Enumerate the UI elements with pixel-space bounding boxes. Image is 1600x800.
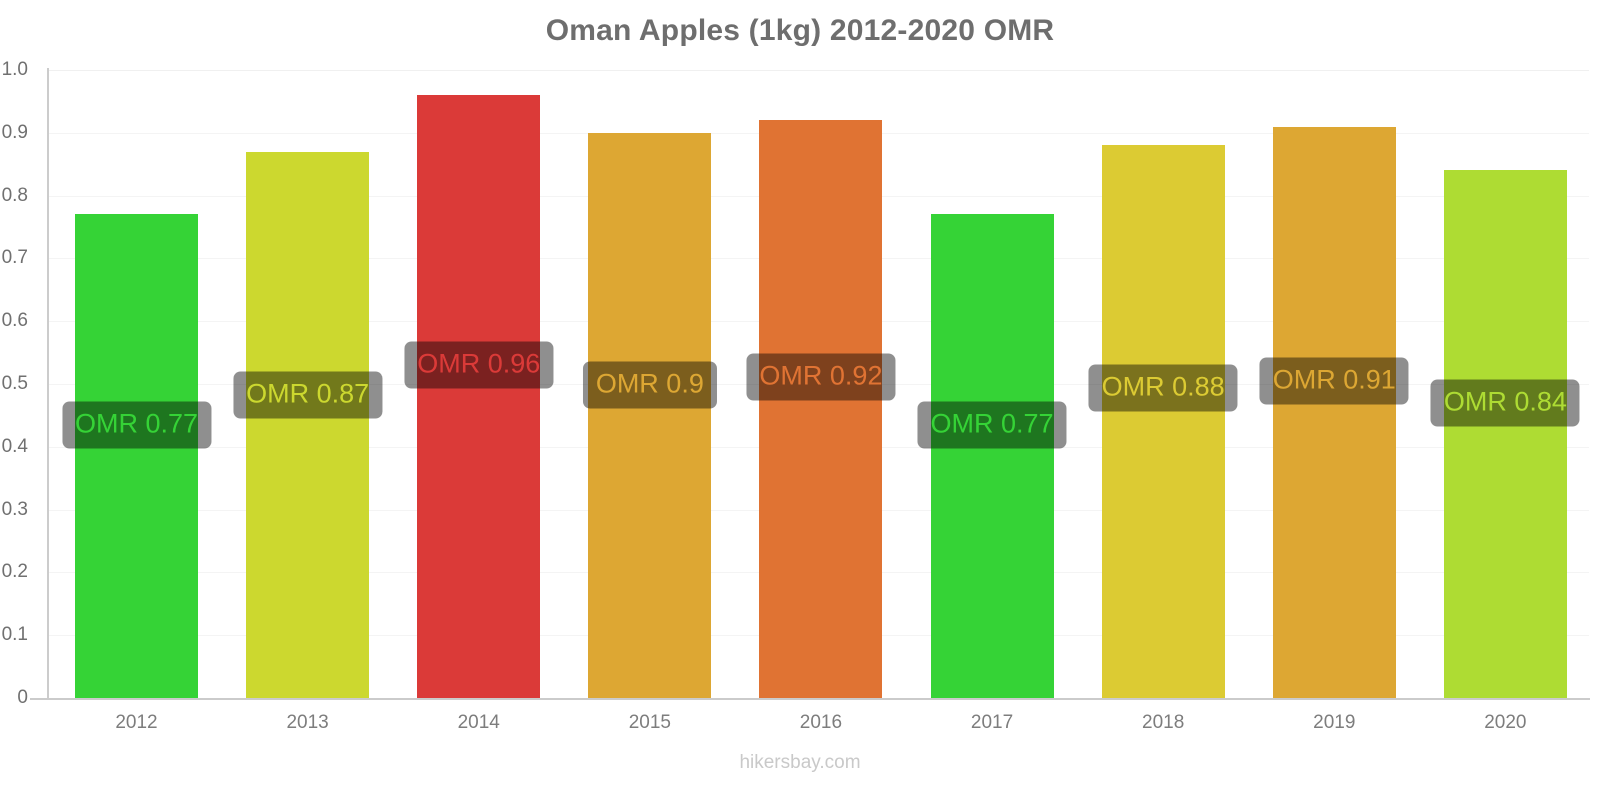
value-label-2016: OMR 0.92 [746,354,895,401]
value-label-text: OMR 0.92 [759,361,882,391]
value-labels-group: OMR 0.77OMR 0.87OMR 0.96OMR 0.9OMR 0.92O… [49,70,1589,698]
x-tick-label-2020: 2020 [1484,712,1526,734]
x-tick-label-2017: 2017 [971,712,1013,734]
value-label-text: OMR 0.87 [246,379,369,409]
x-tick-label-2015: 2015 [629,712,671,734]
value-label-text: OMR 0.88 [1102,372,1225,402]
x-tick-label-2018: 2018 [1142,712,1184,734]
y-tick-label: 0 [0,687,28,709]
y-tick-label: 0.4 [0,436,28,458]
y-tick-label: 0.8 [0,185,28,207]
x-tick-label-2019: 2019 [1313,712,1355,734]
value-label-text: OMR 0.91 [1273,365,1396,395]
value-label-2014: OMR 0.96 [404,342,553,389]
value-label-text: OMR 0.77 [931,409,1054,439]
value-label-2015: OMR 0.9 [583,362,717,409]
value-label-text: OMR 0.77 [75,409,198,439]
x-tick-label-2013: 2013 [286,712,328,734]
value-label-text: OMR 0.96 [417,349,540,379]
y-tick-label: 0.9 [0,122,28,144]
x-tick-label-2016: 2016 [800,712,842,734]
x-tick-label-2012: 2012 [115,712,157,734]
bar-chart: Oman Apples (1kg) 2012-2020 OMR 1.00.90.… [0,0,1600,800]
value-label-text: OMR 0.9 [596,369,704,399]
value-label-2018: OMR 0.88 [1089,365,1238,412]
source-watermark: hikersbay.com [0,752,1600,774]
value-label-2017: OMR 0.77 [918,402,1067,449]
y-tick-label: 1.0 [0,59,28,81]
chart-title: Oman Apples (1kg) 2012-2020 OMR [0,14,1600,48]
value-label-2012: OMR 0.77 [62,402,211,449]
y-tick-label: 0.2 [0,561,28,583]
x-axis-line [30,698,1590,700]
value-label-2020: OMR 0.84 [1431,380,1580,427]
value-label-text: OMR 0.84 [1444,387,1567,417]
plot-area: 1.00.90.80.70.60.50.40.30.20.10 OMR 0.77… [49,70,1589,698]
value-label-2013: OMR 0.87 [233,372,382,419]
y-tick-label: 0.3 [0,499,28,521]
y-tick-label: 0.5 [0,373,28,395]
y-tick-label: 0.7 [0,247,28,269]
x-tick-label-2014: 2014 [458,712,500,734]
value-label-2019: OMR 0.91 [1260,358,1409,405]
y-tick-label: 0.6 [0,310,28,332]
y-tick-label: 0.1 [0,624,28,646]
